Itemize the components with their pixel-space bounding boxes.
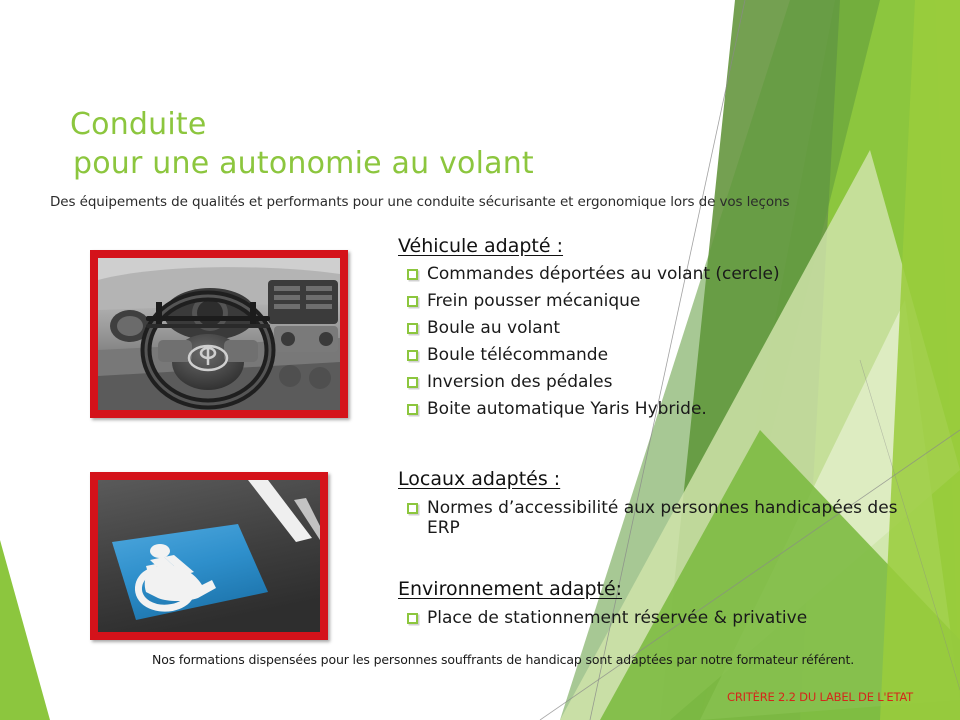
criteria-badge: CRITÈRE 2.2 DU LABEL DE L'ETAT [727,690,913,704]
list-item-label: Commandes déportées au volant (cercle) [427,264,898,285]
image-parking-handicap [90,472,328,640]
list-item: Normes d’accessibilité aux personnes han… [398,498,898,538]
footer-note: Nos formations dispensées pour les perso… [152,652,912,667]
checkbox-bullet-icon [407,404,418,415]
page-title: Conduite pour une autonomie au volant [70,105,710,183]
section-heading-locaux: Locaux adaptés : [398,467,898,491]
section-heading-environnement: Environnement adapté: [398,577,898,601]
list-item: Commandes déportées au volant (cercle) [398,264,898,285]
list-item-label: Boule télécommande [427,345,898,366]
section-locaux: Locaux adaptés : Normes d’accessibilité … [398,467,898,538]
section-environnement: Environnement adapté: Place de stationne… [398,577,898,629]
image-steering-wheel [90,250,348,418]
list-item: Boule au volant [398,318,898,339]
section-vehicule: Véhicule adapté : Commandes déportées au… [398,234,898,420]
list-item-label: Inversion des pédales [427,372,898,393]
checkbox-bullet-icon [407,323,418,334]
checkbox-bullet-icon [407,296,418,307]
handicap-parking-illustration [98,480,320,632]
list-item: Place de stationnement réservée & privat… [398,608,898,629]
presentation-slide: Conduite pour une autonomie au volant De… [0,0,960,720]
list-item-label: Place de stationnement réservée & privat… [427,608,898,629]
bullet-list-environnement: Place de stationnement réservée & privat… [398,608,898,629]
list-item: Frein pousser mécanique [398,291,898,312]
list-item: Inversion des pédales [398,372,898,393]
bullet-list-locaux: Normes d’accessibilité aux personnes han… [398,498,898,538]
bullet-list-vehicule: Commandes déportées au volant (cercle) F… [398,264,898,420]
title-line-1: Conduite [70,105,710,144]
checkbox-bullet-icon [407,350,418,361]
checkbox-bullet-icon [407,503,418,514]
checkbox-bullet-icon [407,269,418,280]
slide-subtitle: Des équipements de qualités et performan… [50,194,840,210]
section-heading-vehicule: Véhicule adapté : [398,234,898,258]
list-item: Boule télécommande [398,345,898,366]
deco-shape-left-wedge [0,540,50,720]
checkbox-bullet-icon [407,377,418,388]
list-item-label: Frein pousser mécanique [427,291,898,312]
checkbox-bullet-icon [407,613,418,624]
list-item-label: Normes d’accessibilité aux personnes han… [427,498,898,538]
steering-wheel-illustration [98,258,340,410]
list-item-label: Boite automatique Yaris Hybride. [427,399,898,420]
title-line-2: pour une autonomie au volant [70,144,710,183]
list-item: Boite automatique Yaris Hybride. [398,399,898,420]
list-item-label: Boule au volant [427,318,898,339]
